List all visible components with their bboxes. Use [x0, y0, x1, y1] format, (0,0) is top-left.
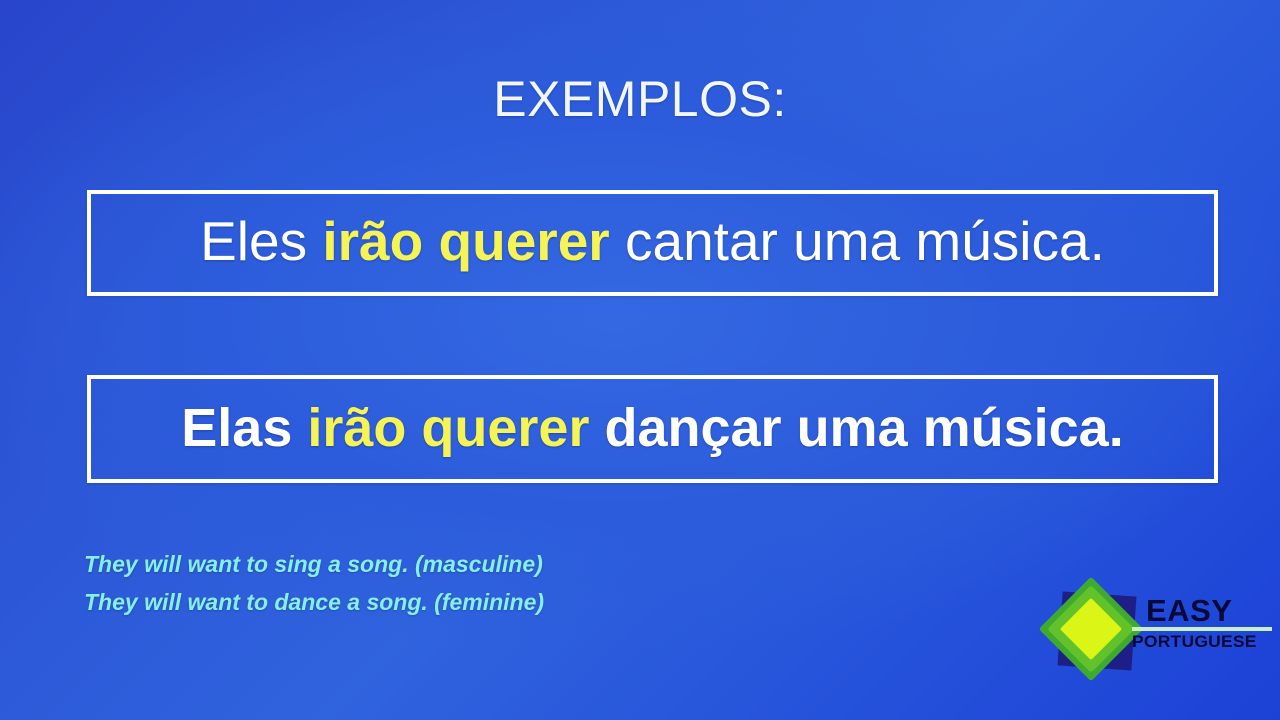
brand-logo: EASY PORTUGUESE: [1034, 582, 1272, 694]
logo-secondary-text: PORTUGUESE: [1132, 632, 1276, 652]
translation-line-1: They will want to sing a song. (masculin…: [84, 545, 544, 583]
translation-line-2: They will want to dance a song. (feminin…: [84, 583, 544, 621]
example-1-suffix: cantar uma música.: [610, 210, 1105, 272]
example-2-suffix: dançar uma música.: [589, 398, 1123, 458]
example-sentence-box-1: Eles irão querer cantar uma música.: [87, 190, 1218, 296]
example-2-highlight: irão querer: [307, 398, 589, 458]
example-1-highlight: irão querer: [322, 210, 609, 272]
example-2-prefix: Elas: [181, 398, 307, 458]
page-title: EXEMPLOS:: [0, 74, 1280, 124]
example-1-prefix: Eles: [200, 210, 322, 272]
translation-block: They will want to sing a song. (masculin…: [84, 545, 544, 621]
example-sentence-1: Eles irão querer cantar uma música.: [91, 214, 1214, 272]
slide-canvas: EXEMPLOS: Eles irão querer cantar uma mú…: [0, 0, 1280, 720]
logo-primary-text: EASY: [1146, 596, 1272, 626]
example-sentence-2: Elas irão querer dançar uma música.: [91, 401, 1214, 458]
example-sentence-box-2: Elas irão querer dançar uma música.: [87, 375, 1218, 483]
logo-wordmark: EASY PORTUGUESE: [1146, 596, 1272, 652]
